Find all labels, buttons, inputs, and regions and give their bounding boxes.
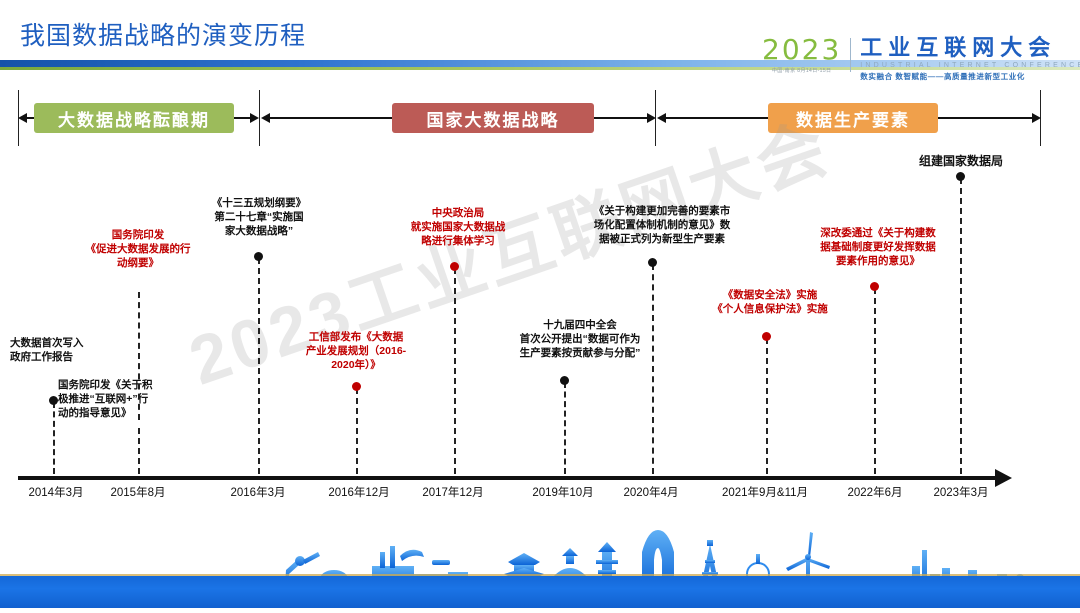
timeline-date-2: 2016年3月: [220, 484, 296, 500]
sea-band: [0, 576, 1080, 608]
timeline-date-4: 2017年12月: [412, 484, 494, 500]
conference-logo: 2023 中国·南京 8月14日-15日 工业互联网大会 INDUSTRIAL …: [762, 36, 1080, 82]
page-title: 我国数据战略的演变历程: [20, 16, 306, 52]
phase-arrow-3-right-head: [1032, 113, 1041, 123]
event-stem-8: [766, 338, 768, 474]
timeline-date-1: 2015年8月: [100, 484, 176, 500]
phase-label-1: 国家大数据战略: [427, 106, 560, 131]
phase-box-2: 数据生产要素: [768, 103, 938, 133]
timeline-axis: [18, 476, 996, 480]
phase-box-1: 国家大数据战略: [392, 103, 594, 133]
event-note-4: 工信部发布《大数据 产业发展规划（2016- 2020年）》: [276, 330, 436, 372]
event-note-0: 大数据首次写入 政府工作报告: [10, 336, 130, 364]
phase-arrow-2-right-head: [647, 113, 656, 123]
phase-arrow-2-line-l: [268, 117, 393, 119]
timeline-date-9: 2023年3月: [922, 484, 1000, 500]
event-stem-4: [356, 388, 358, 474]
event-dot-6: [560, 376, 569, 385]
phase-arrow-2-left-head: [261, 113, 270, 123]
logo-year: 2023: [762, 36, 841, 64]
event-note-8: 《数据安全法》实施 《个人信息保护法》实施: [688, 288, 852, 316]
event-stem-1: [138, 428, 140, 474]
event-dot-10: [956, 172, 965, 181]
logo-name-en: INDUSTRIAL INTERNET CONFERENCE: [860, 62, 1080, 69]
phase-box-0: 大数据战略酝酿期: [34, 103, 234, 133]
event-note-3: 《十三五规划纲要》 第二十七章“实施国 家大数据战略”: [180, 196, 338, 238]
timeline-date-0: 2014年3月: [18, 484, 94, 500]
event-note-1: 国务院印发《关于积 极推进“互联网+”行 动的指导意见》: [58, 378, 188, 420]
event-dot-7: [648, 258, 657, 267]
event-note-10: 组建国家数据局: [886, 154, 1036, 168]
event-dot-4: [352, 382, 361, 391]
event-note-9: 深改委通过《关于构建数 据基础制度更好发挥数据 要素作用的意见》: [792, 226, 964, 268]
timeline-date-3: 2016年12月: [318, 484, 400, 500]
event-note-5: 中央政治局 就实施国家大数据战 略进行集体学习: [380, 206, 536, 248]
logo-date-line: 中国·南京 8月14日-15日: [772, 67, 832, 74]
event-stem-6: [564, 382, 566, 474]
event-dot-3: [254, 252, 263, 261]
phase-arrow-3-line-r: [936, 117, 1036, 119]
timeline-date-6: 2020年4月: [612, 484, 690, 500]
logo-slogan: 数实融合 数智赋能——高质量推进新型工业化: [860, 71, 1080, 82]
event-dot-0: [49, 396, 58, 405]
event-stem-7: [652, 264, 654, 474]
timeline-date-7: 2021年9月&11月: [710, 484, 820, 500]
timeline-date-5: 2019年10月: [522, 484, 604, 500]
timeline-date-8: 2022年6月: [836, 484, 914, 500]
event-stem-5: [454, 268, 456, 474]
event-dot-8: [762, 332, 771, 341]
logo-name-cn: 工业互联网大会: [860, 36, 1080, 60]
event-note-6: 十九届四中全会 首次公开提出“数据可作为 生产要素按贡献参与分配”: [490, 318, 670, 360]
phase-arrow-2-line-r: [592, 117, 650, 119]
phase-label-2: 数据生产要素: [796, 106, 910, 131]
event-stem-9: [874, 288, 876, 474]
event-stem-0: [53, 402, 55, 474]
phase-label-0: 大数据战略酝酿期: [58, 106, 210, 131]
logo-divider: [850, 38, 851, 72]
phase-arrow-3-line-l: [665, 117, 769, 119]
skyline-graphic: [0, 516, 1080, 608]
event-stem-3: [258, 258, 260, 474]
event-dot-5: [450, 262, 459, 271]
phase-band: 大数据战略酝酿期 国家大数据战略 数据生产要素: [0, 88, 1080, 148]
event-note-7: 《关于构建更加完善的要素市 场化配置体制机制的意见》数 据被正式列为新型生产要素: [570, 204, 754, 246]
event-dot-9: [870, 282, 879, 291]
phase-arrow-1-right-head: [250, 113, 259, 123]
event-stem-2: [138, 292, 140, 420]
event-stem-10: [960, 178, 962, 474]
phase-tick-1: [259, 90, 260, 146]
phase-arrow-1-left-head: [18, 113, 27, 123]
phase-arrow-3-left-head: [657, 113, 666, 123]
